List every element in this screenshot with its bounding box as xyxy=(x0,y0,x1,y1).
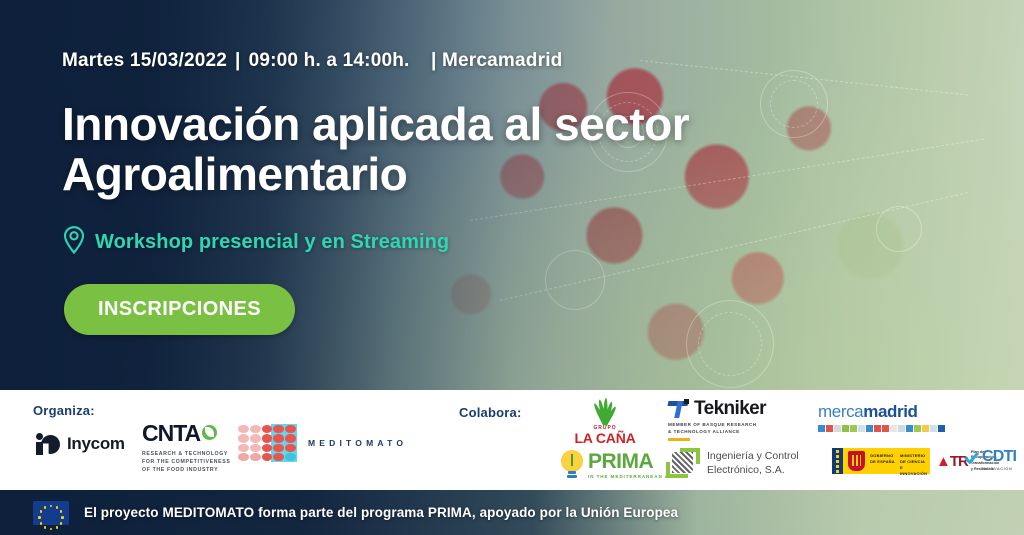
mercamadrid-wordmark-b: madrid xyxy=(863,402,917,421)
meditomato-wordmark: MEDITOMATO xyxy=(308,438,407,448)
colabora-label: Colabora: xyxy=(459,405,521,420)
logo-la-cana[interactable]: GRUPO LA CAÑA xyxy=(557,398,653,446)
logo-meditomato[interactable]: MEDITOMATO xyxy=(237,424,407,462)
cdti-wordmark: CDTI xyxy=(982,448,1016,465)
la-cana-plant-icon xyxy=(557,398,653,425)
hero-content: Martes 15/03/2022|09:00 h. a 14:00h. | M… xyxy=(62,50,762,335)
event-time: 09:00 h. a 14:00h. xyxy=(249,50,410,71)
tekniker-rule xyxy=(668,438,690,441)
tekniker-wordmark: Tekniker xyxy=(694,398,766,420)
meta-spacer xyxy=(410,50,431,72)
inycom-wordmark: Inycom xyxy=(67,434,125,454)
inycom-mark-icon xyxy=(36,432,60,456)
cnta-tagline: RESEARCH & TECHNOLOGY FOR THE COMPETITIV… xyxy=(142,450,230,474)
ice-wordmark: Ingeniería y Control Electrónico, S.A. xyxy=(707,449,799,477)
event-banner: Martes 15/03/2022|09:00 h. a 14:00h. | M… xyxy=(0,0,1024,535)
logo-tekniker[interactable]: Tekniker MEMBER OF BASQUE RESEARCH & TEC… xyxy=(668,398,766,441)
gobierno-ministry-2: MINISTERIO DE CIENCIA E INNOVACIÓN xyxy=(900,453,930,477)
prima-wordmark: PRIMA xyxy=(588,450,653,473)
organiza-label: Organiza: xyxy=(33,403,95,418)
logo-prima[interactable]: PRIMA IN THE MEDITERRANEAN AREA xyxy=(560,450,681,480)
cnta-leaf-icon xyxy=(202,425,217,440)
inscripciones-button[interactable]: INSCRIPCIONES xyxy=(64,284,295,335)
eu-funding-bar: El proyecto MEDITOMATO forma parte del p… xyxy=(0,490,1024,535)
logo-mercamadrid[interactable]: mercamadrid xyxy=(818,402,945,432)
cnta-wordmark: CNTA xyxy=(142,420,200,447)
logo-inycom[interactable]: Inycom xyxy=(36,432,125,456)
meditomato-mark-icon xyxy=(237,424,297,462)
event-venue: | Mercamadrid xyxy=(431,50,562,71)
la-cana-wordmark: LA CAÑA xyxy=(557,430,653,446)
mercamadrid-wordmark-a: merca xyxy=(818,402,863,421)
ice-mark-icon xyxy=(666,448,700,478)
location-pin-icon xyxy=(62,225,86,260)
tekniker-mark-icon xyxy=(668,399,690,419)
event-mode: Workshop presencial y en Streaming xyxy=(62,225,762,260)
logo-ingenieria-control-electronico[interactable]: Ingeniería y Control Electrónico, S.A. xyxy=(666,448,799,478)
gobierno-ministry-1: GOBIERNO DE ESPAÑA xyxy=(870,453,895,465)
event-meta: Martes 15/03/2022|09:00 h. a 14:00h. | M… xyxy=(62,50,762,72)
mercamadrid-wordmark: mercamadrid xyxy=(818,402,945,422)
cdti-check-icon xyxy=(963,452,979,468)
tekniker-tagline: MEMBER OF BASQUE RESEARCH & TECHNOLOGY A… xyxy=(668,422,766,436)
meta-separator: | xyxy=(227,50,249,72)
gobierno-flag-icon: GOBIERNO DE ESPAÑA MINISTERIO DE CIENCIA… xyxy=(832,448,930,474)
eu-flag-icon xyxy=(33,501,69,525)
partners-strip: Organiza: Colabora: Inycom CNTA RESEARCH… xyxy=(0,390,1024,490)
prima-bulb-icon xyxy=(560,450,584,480)
page-title: Innovación aplicada al sector Agroalimen… xyxy=(62,100,762,199)
logo-cnta[interactable]: CNTA RESEARCH & TECHNOLOGY FOR THE COMPE… xyxy=(142,420,230,474)
mercamadrid-color-strip xyxy=(818,425,945,432)
title-line-1: Innovación aplicada al sector xyxy=(62,98,689,150)
eu-funding-text: El proyecto MEDITOMATO forma parte del p… xyxy=(84,505,678,520)
title-line-2: Agroalimentario xyxy=(62,148,407,200)
event-mode-label: Workshop presencial y en Streaming xyxy=(95,231,449,254)
event-date: Martes 15/03/2022 xyxy=(62,50,227,71)
logo-cdti[interactable]: CDTI INNOVACIÓN xyxy=(963,448,1016,471)
cdti-tagline: INNOVACIÓN xyxy=(982,466,1016,471)
